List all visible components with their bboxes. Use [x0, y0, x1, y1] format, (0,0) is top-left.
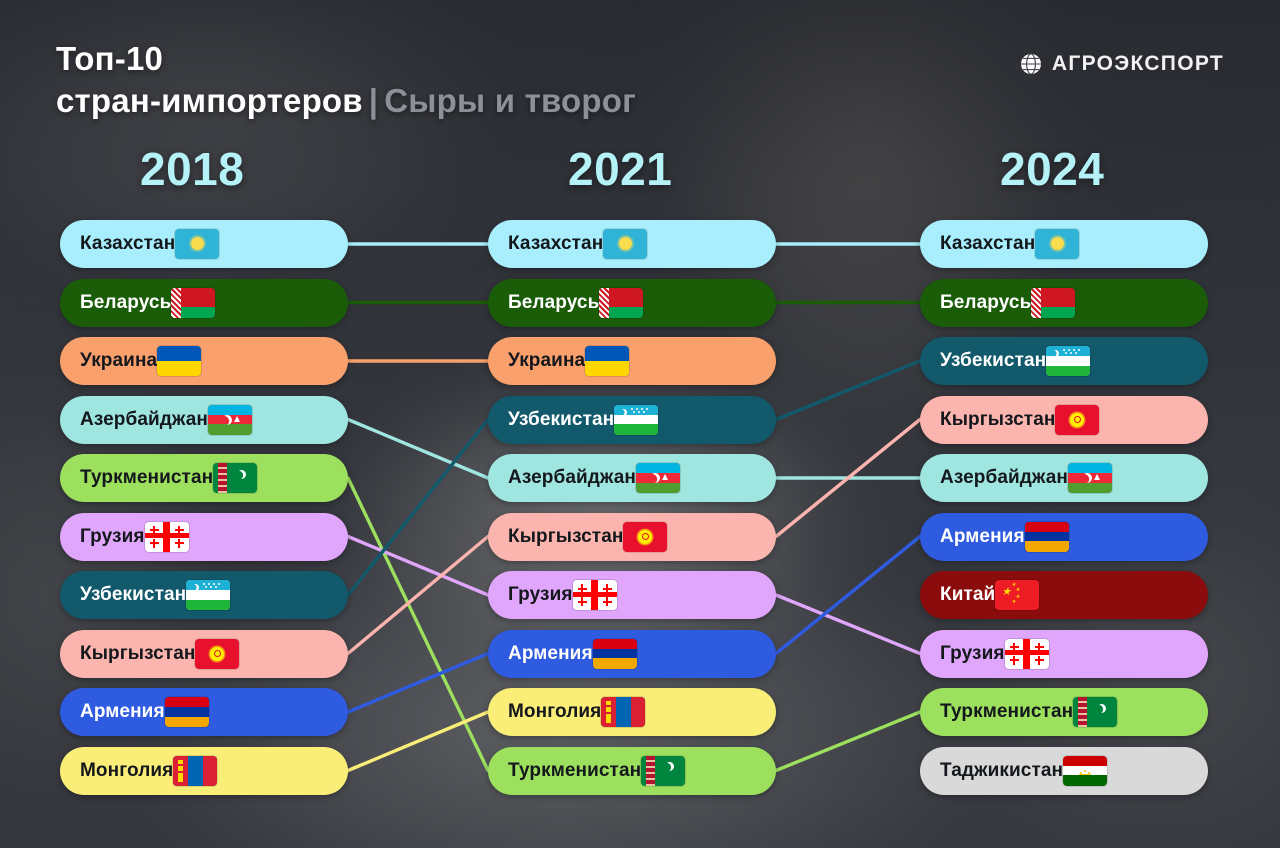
flag-kg-icon	[1055, 405, 1099, 435]
rank-pill-2018-2[interactable]: Беларусь	[60, 279, 348, 327]
title-line-2: стран-импортеров	[56, 82, 363, 119]
flag-uz-icon	[186, 580, 230, 610]
country-name: Туркменистан	[508, 760, 641, 782]
flag-az-icon	[636, 463, 680, 493]
country-name: Армения	[508, 643, 593, 665]
rank-pill-2018-9[interactable]: Армения	[60, 688, 348, 736]
flag-mn-icon	[173, 756, 217, 786]
rank-pill-2024-10[interactable]: Таджикистан	[920, 747, 1208, 795]
flag-am-icon	[1025, 522, 1069, 552]
title-separator: |	[363, 82, 384, 119]
country-name: Грузия	[80, 526, 145, 548]
country-name: Монголия	[508, 701, 601, 723]
country-name: Узбекистан	[80, 584, 186, 606]
country-name: Казахстан	[508, 233, 603, 255]
rank-pill-2024-6[interactable]: Армения	[920, 513, 1208, 561]
flag-uz-icon	[614, 405, 658, 435]
year-2021: 2021	[568, 142, 672, 196]
flag-ge-icon	[1005, 639, 1049, 669]
flag-am-icon	[593, 639, 637, 669]
country-name: Кыргызстан	[940, 409, 1055, 431]
rank-pill-2021-5[interactable]: Азербайджан	[488, 454, 776, 502]
rank-pill-2021-3[interactable]: Украина	[488, 337, 776, 385]
rank-pill-2024-4[interactable]: Кыргызстан	[920, 396, 1208, 444]
flag-by-icon	[599, 288, 643, 318]
rank-pill-2018-8[interactable]: Кыргызстан	[60, 630, 348, 678]
country-name: Грузия	[940, 643, 1005, 665]
flag-kz-icon	[603, 229, 647, 259]
country-name: Казахстан	[80, 233, 175, 255]
country-name: Беларусь	[940, 292, 1031, 314]
country-name: Казахстан	[940, 233, 1035, 255]
country-name: Армения	[80, 701, 165, 723]
country-name: Кыргызстан	[508, 526, 623, 548]
flag-tm-icon	[641, 756, 685, 786]
flag-kg-icon	[623, 522, 667, 552]
year-2024: 2024	[1000, 142, 1104, 196]
title-line-1: Топ-10	[56, 40, 163, 77]
rank-pill-2021-1[interactable]: Казахстан	[488, 220, 776, 268]
rank-pill-2021-10[interactable]: Туркменистан	[488, 747, 776, 795]
year-2018: 2018	[140, 142, 244, 196]
country-name: Азербайджан	[80, 409, 208, 431]
rank-pill-2018-5[interactable]: Туркменистан	[60, 454, 348, 502]
country-name: Азербайджан	[508, 467, 636, 489]
rank-pill-2018-3[interactable]: Украина	[60, 337, 348, 385]
title-subtitle: Сыры и творог	[384, 82, 636, 119]
rank-pill-2024-9[interactable]: Туркменистан	[920, 688, 1208, 736]
country-name: Беларусь	[508, 292, 599, 314]
country-name: Украина	[508, 350, 585, 372]
country-name: Туркменистан	[940, 701, 1073, 723]
rank-pill-2021-8[interactable]: Армения	[488, 630, 776, 678]
country-name: Китай	[940, 584, 995, 606]
brand-logo: АГРОЭКСПОРТ	[1019, 52, 1224, 76]
flag-ge-icon	[145, 522, 189, 552]
rank-pill-2018-6[interactable]: Грузия	[60, 513, 348, 561]
flag-kz-icon	[175, 229, 219, 259]
rank-pill-2024-7[interactable]: Китай★★★★★	[920, 571, 1208, 619]
rank-pill-2024-5[interactable]: Азербайджан	[920, 454, 1208, 502]
flag-am-icon	[165, 697, 209, 727]
country-name: Кыргызстан	[80, 643, 195, 665]
flag-tj-icon	[1063, 756, 1107, 786]
flag-ua-icon	[157, 346, 201, 376]
country-name: Узбекистан	[940, 350, 1046, 372]
flag-tm-icon	[1073, 697, 1117, 727]
page-title: Топ-10 стран-импортеров|Сыры и творог	[56, 38, 636, 122]
country-name: Украина	[80, 350, 157, 372]
rank-pill-2018-1[interactable]: Казахстан	[60, 220, 348, 268]
flag-uz-icon	[1046, 346, 1090, 376]
rank-pill-2018-4[interactable]: Азербайджан	[60, 396, 348, 444]
country-name: Узбекистан	[508, 409, 614, 431]
rank-pill-2021-4[interactable]: Узбекистан	[488, 396, 776, 444]
flag-az-icon	[1068, 463, 1112, 493]
country-name: Азербайджан	[940, 467, 1068, 489]
flag-kg-icon	[195, 639, 239, 669]
rank-pill-2024-3[interactable]: Узбекистан	[920, 337, 1208, 385]
flag-cn-icon: ★★★★★	[995, 580, 1039, 610]
rank-pill-2018-10[interactable]: Монголия	[60, 747, 348, 795]
country-name: Беларусь	[80, 292, 171, 314]
rank-pill-2021-7[interactable]: Грузия	[488, 571, 776, 619]
country-name: Туркменистан	[80, 467, 213, 489]
flag-tm-icon	[213, 463, 257, 493]
rank-pill-2024-1[interactable]: Казахстан	[920, 220, 1208, 268]
rank-pill-2021-6[interactable]: Кыргызстан	[488, 513, 776, 561]
header: Топ-10 стран-импортеров|Сыры и творог АГ…	[0, 0, 1280, 140]
country-name: Монголия	[80, 760, 173, 782]
globe-icon	[1019, 52, 1043, 76]
year-headings: 2018 2021 2024	[0, 142, 1280, 204]
country-name: Таджикистан	[940, 760, 1063, 782]
rank-pill-2021-2[interactable]: Беларусь	[488, 279, 776, 327]
rank-pill-2024-2[interactable]: Беларусь	[920, 279, 1208, 327]
country-name: Армения	[940, 526, 1025, 548]
country-name: Грузия	[508, 584, 573, 606]
rank-pill-2021-9[interactable]: Монголия	[488, 688, 776, 736]
rank-pill-2018-7[interactable]: Узбекистан	[60, 571, 348, 619]
flag-mn-icon	[601, 697, 645, 727]
flag-by-icon	[171, 288, 215, 318]
flag-by-icon	[1031, 288, 1075, 318]
rank-pill-2024-8[interactable]: Грузия	[920, 630, 1208, 678]
flag-az-icon	[208, 405, 252, 435]
flag-ge-icon	[573, 580, 617, 610]
flag-kz-icon	[1035, 229, 1079, 259]
logo-text: АГРОЭКСПОРТ	[1052, 52, 1224, 76]
flag-ua-icon	[585, 346, 629, 376]
